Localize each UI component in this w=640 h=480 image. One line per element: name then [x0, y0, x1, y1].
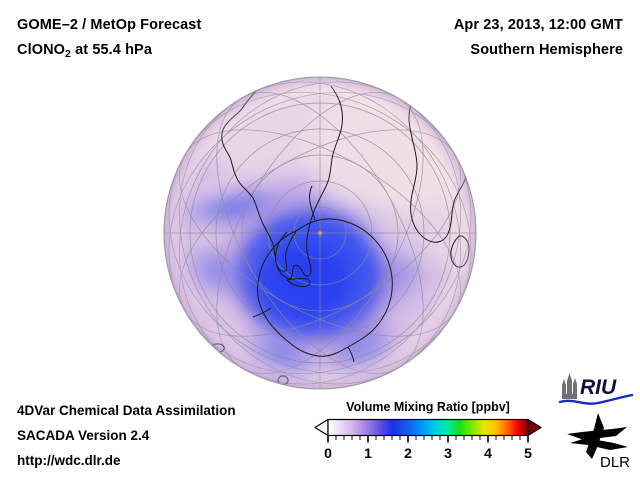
dlr-wordmark: DLR — [600, 454, 630, 470]
species-label: ClONO2 at 55.4 hPa — [17, 42, 152, 58]
colorbar-over-arrow — [528, 420, 541, 436]
colorbar-tick-label: 1 — [364, 445, 372, 461]
colorbar-under-arrow — [315, 420, 328, 436]
riu-tower-icon — [562, 373, 577, 399]
colorbar-title: Volume Mixing Ratio [ppbv] — [310, 400, 546, 414]
globe-map — [163, 76, 477, 390]
colorbar-ticks — [328, 436, 528, 443]
colorbar-tick-label: 4 — [484, 445, 492, 461]
colorbar-gradient — [310, 418, 546, 444]
species-level: at 55.4 hPa — [71, 42, 152, 58]
figure-canvas: GOME–2 / MetOp Forecast ClONO2 at 55.4 h… — [0, 0, 640, 480]
data-field — [163, 76, 477, 390]
colorbar-tick-label: 2 — [404, 445, 412, 461]
colorbar-tick-label: 0 — [324, 445, 332, 461]
version-label: SACADA Version 2.4 — [17, 428, 149, 443]
colorbar: Volume Mixing Ratio [ppbv] 012345 — [310, 400, 546, 472]
orthographic-projection — [163, 76, 477, 390]
region-label: Southern Hemisphere — [470, 42, 623, 58]
species-name: ClONO — [17, 42, 65, 58]
page-title: GOME–2 / MetOp Forecast — [17, 17, 201, 33]
dlr-star-icon — [567, 413, 628, 459]
datetime-label: Apr 23, 2013, 12:00 GMT — [454, 17, 623, 33]
assimilation-label: 4DVar Chemical Data Assimilation — [17, 403, 236, 418]
colorbar-tick-labels: 012345 — [310, 445, 546, 465]
colorbar-body — [328, 420, 528, 436]
species-subscript: 2 — [65, 48, 71, 60]
riu-logo: RIU — [558, 373, 634, 407]
colorbar-tick-label: 5 — [524, 445, 532, 461]
riu-wordmark: RIU — [580, 376, 617, 399]
colorbar-tick-label: 3 — [444, 445, 452, 461]
website-url[interactable]: http://wdc.dlr.de — [17, 453, 121, 468]
dlr-logo: DLR — [564, 412, 634, 470]
